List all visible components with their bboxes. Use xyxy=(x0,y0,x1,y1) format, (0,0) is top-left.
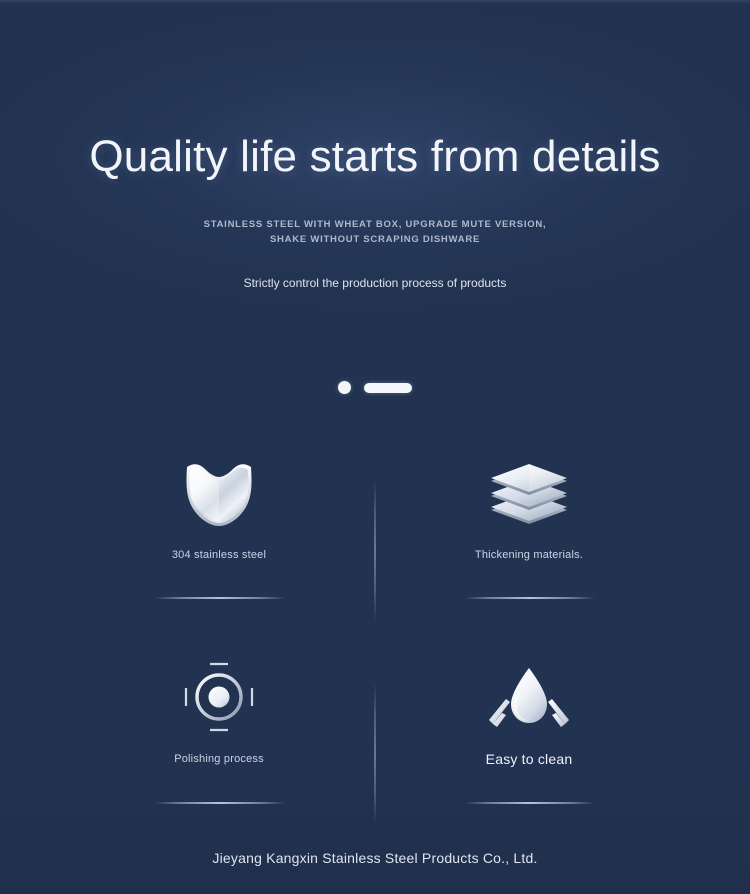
shield-icon xyxy=(94,453,344,533)
feature-label: Polishing process xyxy=(94,751,344,767)
water-drop-icon xyxy=(404,657,654,737)
feature-item-polishing-process[interactable]: Polishing process xyxy=(94,657,344,767)
company-name: Jieyang Kangxin Stainless Steel Products… xyxy=(0,848,750,868)
horizontal-divider-top-left xyxy=(155,597,285,599)
subheadline: STAINLESS STEEL WITH WHEAT BOX, UPGRADE … xyxy=(0,217,750,247)
page-title: Quality life starts from details xyxy=(0,129,750,185)
feature-item-easy-to-clean[interactable]: Easy to clean xyxy=(404,657,654,767)
feature-label: Thickening materials. xyxy=(404,547,654,563)
feature-label: 304 stainless steel xyxy=(94,547,344,563)
horizontal-divider-bottom-left xyxy=(155,802,285,804)
feature-item-304-stainless-steel[interactable]: 304 stainless steel xyxy=(94,453,344,563)
subheadline-line-1: STAINLESS STEEL WITH WHEAT BOX, UPGRADE … xyxy=(0,217,750,232)
feature-label: Easy to clean xyxy=(404,751,654,767)
layers-icon xyxy=(404,453,654,533)
vertical-divider-row-1 xyxy=(374,480,376,622)
crosshair-icon xyxy=(94,657,344,737)
feature-item-thickening-materials[interactable]: Thickening materials. xyxy=(404,453,654,563)
subheadline-line-2: SHAKE WITHOUT SCRAPING DISHWARE xyxy=(0,232,750,247)
horizontal-divider-top-right xyxy=(465,597,595,599)
circle-dot-icon[interactable] xyxy=(338,381,351,394)
feature-grid: 304 stainless steel xyxy=(0,445,750,825)
horizontal-divider-bottom-right xyxy=(465,802,595,804)
pill-bar-icon[interactable] xyxy=(364,383,412,393)
carousel-indicator[interactable] xyxy=(0,381,750,394)
promo-banner: Quality life starts from details STAINLE… xyxy=(0,0,750,894)
vertical-divider-row-2 xyxy=(374,683,376,825)
tagline: Strictly control the production process … xyxy=(0,274,750,292)
